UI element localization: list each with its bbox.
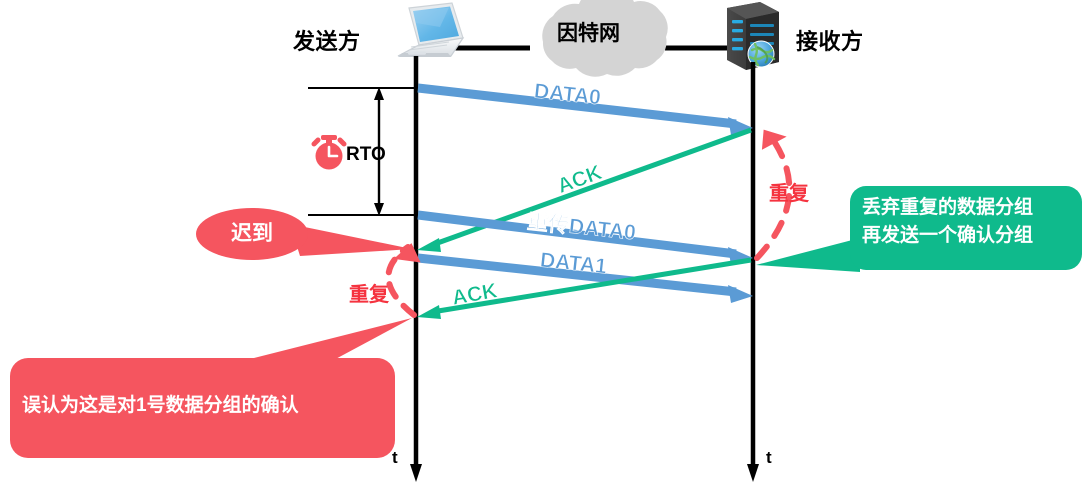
duplicate-label-receiver: 重复: [769, 183, 809, 205]
sender-timeline: [410, 56, 422, 482]
stopwatch-icon: [314, 135, 344, 170]
receiver-timeline: [747, 62, 759, 482]
sender-time-axis-label: t: [392, 448, 398, 467]
server-icon: [727, 2, 779, 70]
rto-label: RTO: [346, 144, 386, 165]
sender-note-callout: [10, 318, 412, 458]
receiver-note-line2: 再发送一个确认分组: [862, 224, 1074, 248]
sender-label: 发送方: [293, 30, 361, 55]
sender-note-text: 误认为这是对1号数据分组的确认: [22, 394, 382, 418]
receiver-label: 接收方: [796, 30, 864, 55]
duplicate-arc-sender: [388, 240, 424, 315]
laptop-icon: [398, 3, 463, 57]
sequence-diagram-canvas: 发送方 接收方 因特网 RTO DATA0 ACK 重传DATA0 DATA1 …: [0, 0, 1091, 488]
late-callout-text: 迟到: [212, 221, 292, 248]
network-cloud-label: 因特网: [557, 22, 620, 46]
receiver-note-line1: 丢弃重复的数据分组: [862, 196, 1074, 220]
receiver-time-axis-label: t: [766, 448, 772, 467]
duplicate-label-sender: 重复: [349, 284, 389, 306]
